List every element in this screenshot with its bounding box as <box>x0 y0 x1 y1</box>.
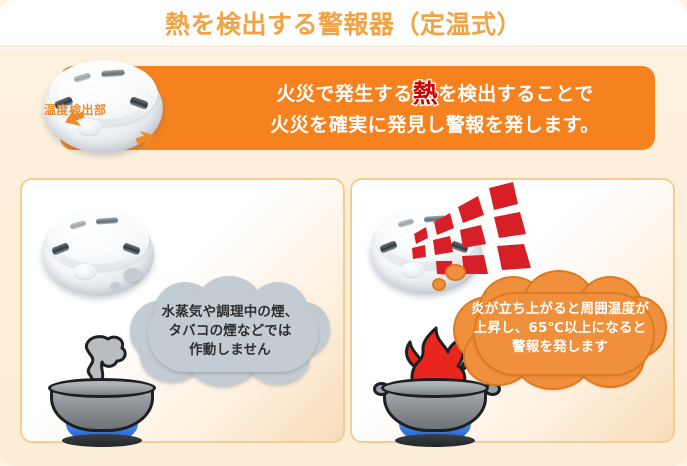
intro-banner-text: 火災で発生する熱を検出することで 火災を確実に発見し警報を発します。 <box>225 76 645 140</box>
speech-bubble-alarm-triggers: 炎が立ち上がると周囲温度が 上昇し、65℃以上になると 警報を発します <box>455 272 665 390</box>
callout-arrow-left <box>62 106 87 131</box>
title-bar: 熱を検出する警報器（定温式） <box>0 0 687 47</box>
intro-line-2: 火災を確実に発見し警報を発します。 <box>225 112 645 140</box>
intro-line-1-after: を検出することで <box>438 83 593 105</box>
intro-section: 火災で発生する熱を検出することで 火災を確実に発見し警報を発します。 温度検出部 <box>0 47 687 168</box>
bubble-tail-dot <box>110 282 121 291</box>
bubble-left-line-2: タバコの煙などでは <box>130 322 330 341</box>
bubble-tail-dot <box>434 280 444 289</box>
bubble-right-line-1: 炎が立ち上がると周囲温度が <box>455 300 665 319</box>
page-title: 熱を検出する警報器（定温式） <box>165 5 522 41</box>
bubble-right-line-2: 上昇し、65℃以上になると <box>455 319 665 338</box>
burner-base <box>62 434 142 447</box>
intro-line-1-before: 火災で発生する <box>276 83 413 105</box>
bubble-left-line-3: 作動しません <box>130 341 330 360</box>
callout-arrows <box>30 87 190 157</box>
speech-bubble-no-false-alarm: 水蒸気や調理中の煙、 タバコの煙などでは 作動しません <box>130 276 330 386</box>
intro-line-1: 火災で発生する熱を検出することで <box>225 76 645 112</box>
keyword-heat: 熱 <box>413 79 439 108</box>
callout-arrow-right <box>134 126 159 151</box>
infographic-page: 熱を検出する警報器（定温式） 火災で発生する熱を検出することで 火災を確実に発見… <box>0 0 687 466</box>
burner-base <box>395 434 475 447</box>
bubble-left-text: 水蒸気や調理中の煙、 タバコの煙などでは 作動しません <box>130 303 330 360</box>
alarm-rays-icon <box>408 182 558 277</box>
bubble-right-text: 炎が立ち上がると周囲温度が 上昇し、65℃以上になると 警報を発します <box>455 300 665 357</box>
detector-test-button <box>74 264 96 279</box>
bubble-left-line-1: 水蒸気や調理中の煙、 <box>130 303 330 322</box>
bubble-right-line-3: 警報を発します <box>455 338 665 357</box>
